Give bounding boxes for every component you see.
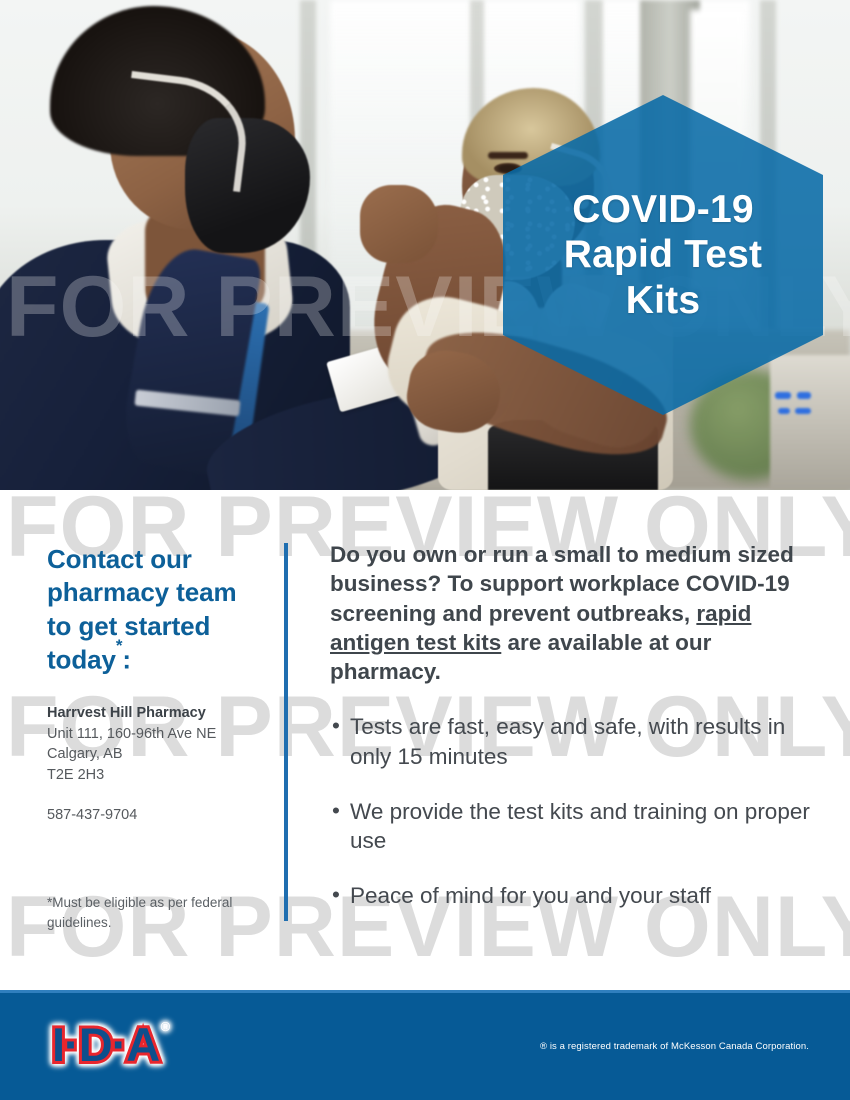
hero-photo: FOR PREVIEW ONLY COVID-19 Rapid Test Kit… xyxy=(0,0,850,490)
led-indicator xyxy=(795,408,811,414)
ida-logo-letters: I·D·A xyxy=(52,1018,159,1071)
poster: FOR PREVIEW ONLY COVID-19 Rapid Test Kit… xyxy=(0,0,850,1100)
led-indicator xyxy=(775,392,791,399)
list-item: We provide the test kits and training on… xyxy=(330,797,810,856)
badge-line-2: Rapid Test xyxy=(564,232,762,278)
ida-logo-text: I·D·A® xyxy=(46,1015,165,1074)
trademark-notice: ® is a registered trademark of McKesson … xyxy=(540,1041,809,1052)
address-line-3: T2E 2H3 xyxy=(47,765,262,786)
pharmacy-name: Harrvest Hill Pharmacy xyxy=(47,705,262,721)
woman-eyebrow xyxy=(488,152,528,159)
cta-heading-text: Contact our pharmacy team to get started… xyxy=(47,544,236,674)
cta-heading-asterisk: * xyxy=(116,636,123,655)
vertical-divider xyxy=(284,543,288,921)
registered-trademark-icon: ® xyxy=(161,1019,170,1034)
benefit-list: Tests are fast, easy and safe, with resu… xyxy=(330,712,810,910)
main-column: Do you own or run a small to medium size… xyxy=(330,540,810,937)
cta-heading: Contact our pharmacy team to get started… xyxy=(47,543,262,677)
contact-column: Contact our pharmacy team to get started… xyxy=(47,543,262,823)
address-line-1: Unit 111, 160-96th Ave NE xyxy=(47,724,262,745)
badge-text: COVID-19 Rapid Test Kits xyxy=(546,187,780,324)
cta-heading-colon: : xyxy=(122,644,131,674)
woman-fist xyxy=(360,185,438,263)
footer: I·D·A® ® is a registered trademark of Mc… xyxy=(0,993,850,1100)
content-area: Contact our pharmacy team to get started… xyxy=(0,490,850,990)
ida-logo: I·D·A® xyxy=(46,1015,165,1074)
address-line-2: Calgary, AB xyxy=(47,744,262,765)
list-item: Peace of mind for you and your staff xyxy=(330,881,810,910)
eligibility-disclaimer: *Must be eligible as per federal guideli… xyxy=(47,893,247,932)
badge-line-3: Kits xyxy=(564,278,762,324)
badge-line-1: COVID-19 xyxy=(564,187,762,233)
led-indicator xyxy=(778,408,790,414)
intro-paragraph: Do you own or run a small to medium size… xyxy=(330,540,810,686)
phone-number[interactable]: 587-437-9704 xyxy=(47,807,262,823)
list-item: Tests are fast, easy and safe, with resu… xyxy=(330,712,810,771)
led-indicator xyxy=(797,392,811,399)
kiosk xyxy=(770,355,850,490)
